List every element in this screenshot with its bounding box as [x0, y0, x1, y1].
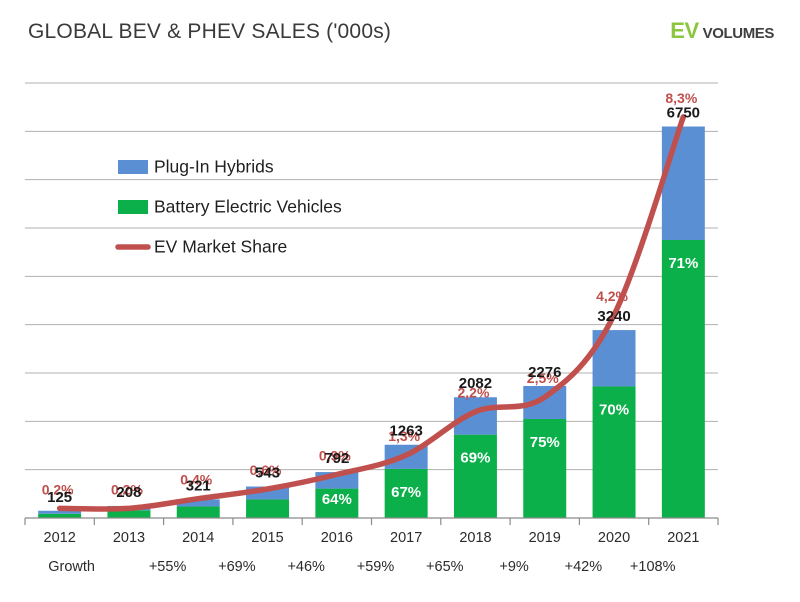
x-axis-label-2019: 2019	[529, 530, 561, 546]
legend-swatch-0	[118, 160, 148, 174]
bev-share-label-2020: 70%	[599, 401, 629, 418]
x-axis	[25, 518, 718, 525]
x-axis-label-2017: 2017	[390, 530, 422, 546]
bar-total-label-2020: 3240	[597, 308, 630, 325]
bar-bev-2012	[38, 514, 81, 518]
bar-bev-2021	[662, 240, 705, 518]
bar-total-label-2019: 2276	[528, 364, 561, 381]
market-share-label-2021: 8,3%	[665, 90, 697, 106]
x-axis-label-2015: 2015	[251, 530, 283, 546]
bev-share-label-2018: 69%	[460, 450, 490, 467]
bar-total-label-2013: 208	[116, 484, 141, 501]
growth-label-2020: +42%	[565, 559, 603, 575]
x-axis-label-2016: 2016	[321, 530, 353, 546]
x-axis-label-2021: 2021	[667, 530, 699, 546]
bev-share-label-2017: 67%	[391, 484, 421, 501]
growth-label-2015: +69%	[218, 559, 256, 575]
x-axis-label-2018: 2018	[459, 530, 491, 546]
bar-total-label-2016: 792	[324, 450, 349, 467]
chart-legend: Plug-In HybridsBattery Electric Vehicles…	[118, 157, 342, 257]
bar-phev-2018	[454, 397, 497, 434]
x-axis-label-2012: 2012	[44, 530, 76, 546]
bar-total-label-2012: 125	[47, 489, 72, 506]
legend-label-1: Battery Electric Vehicles	[154, 197, 342, 217]
bev-share-label-2016: 64%	[322, 491, 352, 508]
growth-row: Growth+55%+69%+46%+59%+65%+9%+42%+108%	[48, 559, 675, 575]
bar-bev-2018	[454, 435, 497, 518]
bev-share-label-2021: 71%	[668, 255, 698, 272]
market-share-label-2020: 4,2%	[596, 288, 628, 304]
legend-label-2: EV Market Share	[154, 237, 287, 257]
growth-label-2017: +59%	[357, 559, 395, 575]
bar-total-label-2014: 321	[186, 477, 211, 494]
x-axis-label-2020: 2020	[598, 530, 630, 546]
bar-total-label-2021: 6750	[667, 105, 700, 122]
chart-page: GLOBAL BEV & PHEV SALES ('000s) EV VOLUM…	[0, 0, 800, 602]
growth-label-2019: +9%	[499, 559, 529, 575]
bar-phev-2021	[662, 127, 705, 241]
legend-swatch-1	[118, 200, 148, 214]
x-axis-labels: 2012201320142015201620172018201920202021	[44, 530, 700, 546]
bar-total-label-2018: 2082	[459, 375, 492, 392]
chart-canvas: 0,2%0,2%0,4%0,6%0,9%1,3%2,2%2,5%4,2%8,3%…	[0, 0, 800, 602]
bar-total-label-2015: 543	[255, 465, 280, 482]
x-axis-label-2014: 2014	[182, 530, 214, 546]
bar-bev-2015	[246, 499, 289, 518]
growth-label-2014: +55%	[149, 559, 187, 575]
legend-label-0: Plug-In Hybrids	[154, 157, 274, 177]
growth-label-2016: +46%	[287, 559, 325, 575]
bev-share-label-2019: 75%	[530, 434, 560, 451]
growth-label-2018: +65%	[426, 559, 464, 575]
x-axis-label-2013: 2013	[113, 530, 145, 546]
bar-bev-2014	[177, 506, 220, 518]
growth-caption: Growth	[48, 559, 95, 575]
bar-total-label-2017: 1263	[389, 423, 422, 440]
growth-label-2021: +108%	[630, 559, 676, 575]
